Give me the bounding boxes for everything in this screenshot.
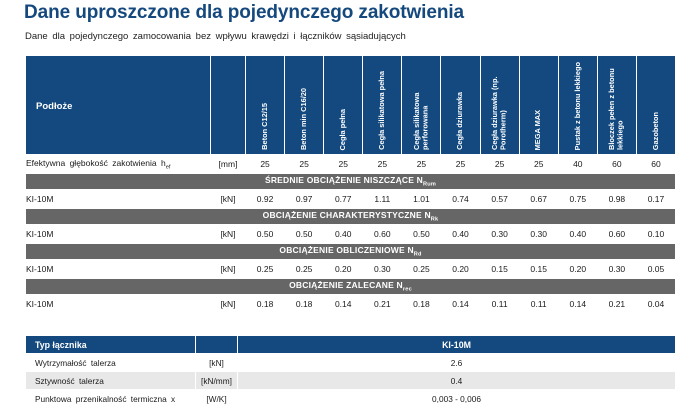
property-value: 0,003 - 0,006 <box>238 390 676 408</box>
data-cell: 0.04 <box>636 295 675 314</box>
data-cell: 25 <box>441 155 480 174</box>
data-cell: 0.50 <box>285 225 324 244</box>
data-cell: 0.21 <box>363 295 402 314</box>
data-cell: 0.10 <box>636 225 675 244</box>
data-cell: 0.74 <box>441 190 480 209</box>
data-cell: 0.60 <box>363 225 402 244</box>
data-cell: 0.30 <box>597 260 636 279</box>
property-value: 0.4 <box>238 372 676 390</box>
data-cell: 0.25 <box>246 260 285 279</box>
data-cell: 0.50 <box>402 225 441 244</box>
data-cell: 0.30 <box>519 225 558 244</box>
table-header-row: PodłożeBeton C12/15Beton min C16/20Cegła… <box>26 56 676 155</box>
data-cell: 0.14 <box>324 295 363 314</box>
table-row: Efektywna głębokość zakotwienia hef[mm]2… <box>26 155 676 174</box>
data-cell: 60 <box>636 155 675 174</box>
table-row: KI-10M[kN]0.920.970.771.111.010.740.570.… <box>26 190 676 209</box>
data-cell: 0.18 <box>285 295 324 314</box>
row-label-depth: Efektywna głębokość zakotwienia hef <box>26 155 211 174</box>
data-cell: 25 <box>480 155 519 174</box>
row-unit: [kN] <box>211 260 246 279</box>
column-header-label: Cegła dziurawka (np. Porotherm) <box>491 60 508 150</box>
column-header-label: Pustak z betonu lekkiego <box>574 62 583 150</box>
property-unit: [kN/mm] <box>196 372 238 390</box>
data-cell: 0.40 <box>441 225 480 244</box>
row-label-fastener: KI-10M <box>26 225 211 244</box>
fastener-properties-table: Typ łącznikaKI-10MWytrzymałość talerza[k… <box>25 335 676 408</box>
properties-header-value: KI-10M <box>238 336 676 354</box>
property-value: 2.6 <box>238 354 676 372</box>
data-cell: 40 <box>558 155 597 174</box>
subscript: ef <box>166 164 171 170</box>
column-header-5: Cegła dziurawka <box>441 56 480 155</box>
data-cell: 0.17 <box>636 190 675 209</box>
column-header-label: Cegła dziurawka <box>456 92 465 150</box>
data-cell: 0.15 <box>519 260 558 279</box>
data-cell: 25 <box>285 155 324 174</box>
column-header-2: Cegła pełna <box>324 56 363 155</box>
data-cell: 25 <box>324 155 363 174</box>
data-cell: 25 <box>519 155 558 174</box>
data-cell: 0.30 <box>363 260 402 279</box>
data-cell: 0.18 <box>246 295 285 314</box>
property-label: Sztywność talerza <box>26 372 196 390</box>
list-item: Punktowa przenikalność termiczna x[W/K]0… <box>26 390 676 408</box>
data-cell: 0.40 <box>324 225 363 244</box>
data-cell: 0.15 <box>480 260 519 279</box>
properties-header-label: Typ łącznika <box>26 336 196 354</box>
data-cell: 0.25 <box>402 260 441 279</box>
data-cell: 0.20 <box>324 260 363 279</box>
column-header-label: Cegła pełna <box>339 109 348 150</box>
column-header-label: Cegła silikatowa pełna <box>378 71 387 150</box>
data-cell: 0.97 <box>285 190 324 209</box>
data-cell: 25 <box>363 155 402 174</box>
properties-header-unit <box>196 336 238 354</box>
section-heading-row: ŚREDNIE OBCIĄŻENIE NISZCZĄCE NRum <box>26 174 676 190</box>
property-unit: [kN] <box>196 354 238 372</box>
column-header-7: MEGA MAX <box>519 56 558 155</box>
column-header-label: Cegła silikatowa perforowana <box>413 60 430 150</box>
subscript: Rd <box>414 252 422 258</box>
data-cell: 0.05 <box>636 260 675 279</box>
table-row: KI-10M[kN]0.500.500.400.600.500.400.300.… <box>26 225 676 244</box>
row-label-fastener: KI-10M <box>26 260 211 279</box>
section-heading: OBCIĄŻENIE ZALECANE Nrec <box>26 279 676 295</box>
row-unit: [kN] <box>211 295 246 314</box>
data-cell: 0.11 <box>480 295 519 314</box>
subscript: rec <box>403 287 412 293</box>
column-header-1: Beton min C16/20 <box>285 56 324 155</box>
table-row: KI-10M[kN]0.250.250.200.300.250.200.150.… <box>26 260 676 279</box>
column-header-3: Cegła silikatowa pełna <box>363 56 402 155</box>
properties-header-row: Typ łącznikaKI-10M <box>26 336 676 354</box>
data-cell: 0.40 <box>558 225 597 244</box>
column-header-6: Cegła dziurawka (np. Porotherm) <box>480 56 519 155</box>
data-cell: 0.98 <box>597 190 636 209</box>
column-header-4: Cegła silikatowa perforowana <box>402 56 441 155</box>
data-cell: 25 <box>246 155 285 174</box>
data-cell: 0.60 <box>597 225 636 244</box>
subscript: Rk <box>431 217 439 223</box>
section-heading-row: OBCIĄŻENIE ZALECANE Nrec <box>26 279 676 295</box>
data-cell: 0.75 <box>558 190 597 209</box>
row-label-fastener: KI-10M <box>26 190 211 209</box>
datasheet-page: Dane uproszczone dla pojedynczego zakotw… <box>0 0 700 407</box>
data-cell: 0.11 <box>519 295 558 314</box>
column-header-label: Gazobeton <box>652 112 661 150</box>
row-label-fastener: KI-10M <box>26 295 211 314</box>
column-header-9: Bloczek pełen z betonu lekkiego <box>597 56 636 155</box>
table-row: KI-10M[kN]0.180.180.140.210.180.140.110.… <box>26 295 676 314</box>
page-subtitle: Dane dla pojedynczego zamocowania bez wp… <box>25 31 406 42</box>
row-unit: [kN] <box>211 225 246 244</box>
column-header-label: MEGA MAX <box>534 110 543 150</box>
data-cell: 0.57 <box>480 190 519 209</box>
data-cell: 0.25 <box>285 260 324 279</box>
section-heading: OBCIĄŻENIE OBLICZENIOWE NRd <box>26 244 676 260</box>
row-unit: [kN] <box>211 190 246 209</box>
column-header-0: Beton C12/15 <box>246 56 285 155</box>
column-header-8: Pustak z betonu lekkiego <box>558 56 597 155</box>
data-cell: 1.11 <box>363 190 402 209</box>
page-title: Dane uproszczone dla pojedynczego zakotw… <box>24 2 464 24</box>
list-item: Wytrzymałość talerza[kN]2.6 <box>26 354 676 372</box>
list-item: Sztywność talerza[kN/mm]0.4 <box>26 372 676 390</box>
data-cell: 0.14 <box>558 295 597 314</box>
data-cell: 0.67 <box>519 190 558 209</box>
data-cell: 0.21 <box>597 295 636 314</box>
data-cell: 0.20 <box>441 260 480 279</box>
section-heading: OBCIĄŻENIE CHARAKTERYSTYCZNE NRk <box>26 209 676 225</box>
data-cell: 0.30 <box>480 225 519 244</box>
data-cell: 0.92 <box>246 190 285 209</box>
row-unit: [mm] <box>211 155 246 174</box>
data-cell: 1.01 <box>402 190 441 209</box>
section-heading-row: OBCIĄŻENIE CHARAKTERYSTYCZNE NRk <box>26 209 676 225</box>
property-label: Punktowa przenikalność termiczna x <box>26 390 196 408</box>
data-cell: 0.18 <box>402 295 441 314</box>
property-label: Wytrzymałość talerza <box>26 354 196 372</box>
header-unit-cell <box>211 56 246 155</box>
data-cell: 0.50 <box>246 225 285 244</box>
section-heading: ŚREDNIE OBCIĄŻENIE NISZCZĄCE NRum <box>26 174 676 190</box>
data-cell: 0.14 <box>441 295 480 314</box>
column-header-label: Beton min C16/20 <box>300 88 309 150</box>
header-substrate-label: Podłoże <box>26 56 211 155</box>
anchorage-data-table: PodłożeBeton C12/15Beton min C16/20Cegła… <box>25 55 676 314</box>
data-cell: 0.77 <box>324 190 363 209</box>
data-cell: 60 <box>597 155 636 174</box>
subscript: Rum <box>423 182 436 188</box>
column-header-label: Beton C12/15 <box>261 103 270 150</box>
data-cell: 0.20 <box>558 260 597 279</box>
column-header-label: Bloczek pełen z betonu lekkiego <box>608 60 625 150</box>
data-cell: 25 <box>402 155 441 174</box>
property-unit: [W/K] <box>196 390 238 408</box>
column-header-10: Gazobeton <box>636 56 675 155</box>
section-heading-row: OBCIĄŻENIE OBLICZENIOWE NRd <box>26 244 676 260</box>
